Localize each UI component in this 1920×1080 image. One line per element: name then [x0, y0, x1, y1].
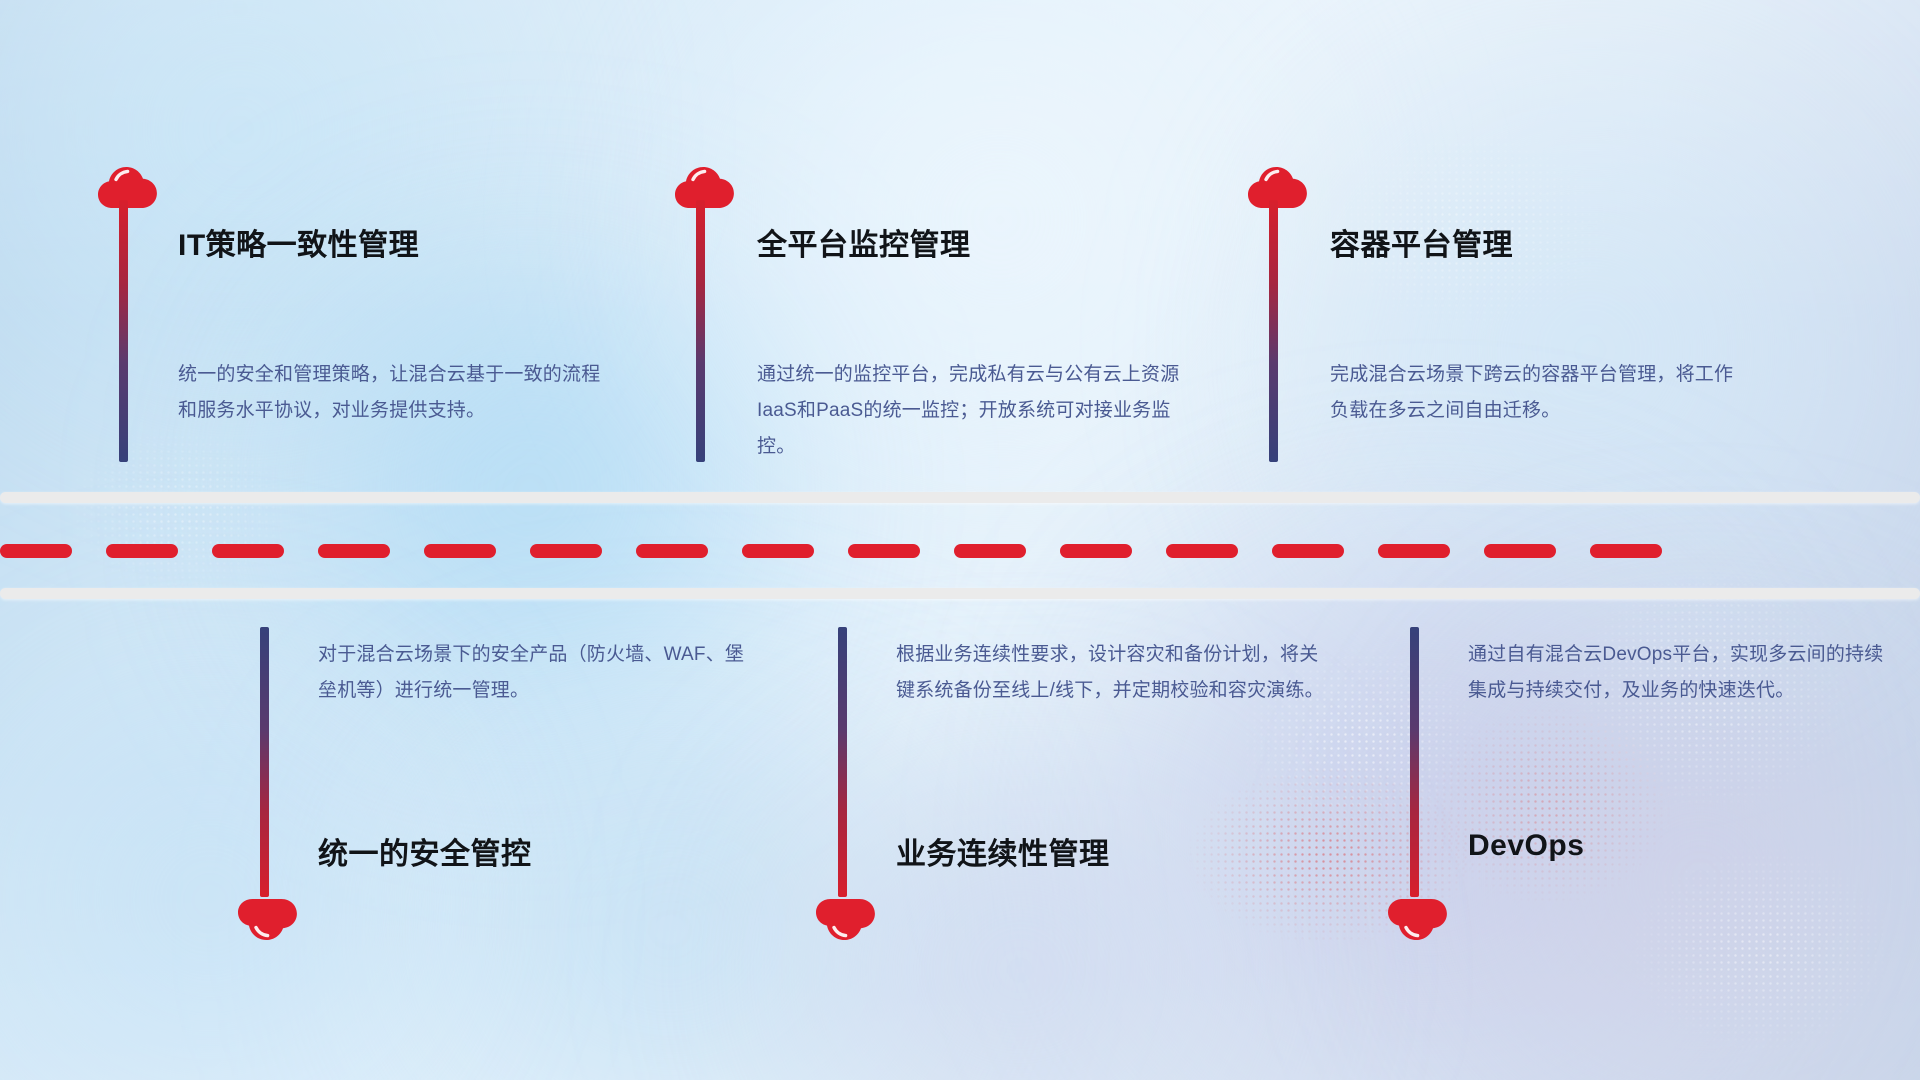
road-dash-segment: [530, 544, 602, 558]
road-dash-segment: [318, 544, 390, 558]
cloud-icon: [236, 898, 298, 944]
road-dashed-line: [0, 544, 1920, 558]
feature-title: IT策略一致性管理: [178, 220, 419, 264]
road-dash-segment: [1060, 544, 1132, 558]
road-dash-segment: [106, 544, 178, 558]
road-dash-segment: [1484, 544, 1556, 558]
column-stem: [1269, 200, 1278, 462]
column-stem: [260, 627, 269, 897]
feature-title: 业务连续性管理: [896, 829, 1110, 873]
road-solid-line-bottom: [0, 588, 1920, 599]
road-solid-line-top: [0, 492, 1920, 503]
feature-description: 根据业务连续性要求，设计容灾和备份计划，将关键系统备份至线上/线下，并定期校验和…: [896, 637, 1326, 709]
column-stem: [696, 200, 705, 462]
road-dash-segment: [1166, 544, 1238, 558]
road-dash-segment: [848, 544, 920, 558]
feature-description: 通过自有混合云DevOps平台，实现多云间的持续集成与持续交付，及业务的快速迭代…: [1468, 637, 1888, 709]
column-stem: [119, 200, 128, 462]
feature-description: 对于混合云场景下的安全产品（防火墙、WAF、堡垒机等）进行统一管理。: [318, 637, 748, 709]
feature-title: DevOps: [1468, 829, 1584, 863]
road-dash-segment: [954, 544, 1026, 558]
cloud-icon: [814, 898, 876, 944]
road-dash-segment: [212, 544, 284, 558]
feature-description: 完成混合云场景下跨云的容器平台管理，将工作负载在多云之间自由迁移。: [1330, 357, 1750, 429]
road-dash-segment: [1272, 544, 1344, 558]
feature-description: 统一的安全和管理策略，让混合云基于一致的流程和服务水平协议，对业务提供支持。: [178, 357, 610, 429]
column-stem: [838, 627, 847, 897]
feature-title: 统一的安全管控: [318, 829, 532, 873]
feature-description: 通过统一的监控平台，完成私有云与公有云上资源IaaS和PaaS的统一监控；开放系…: [757, 357, 1197, 465]
road-dash-segment: [424, 544, 496, 558]
road-dash-segment: [636, 544, 708, 558]
road-dash-segment: [742, 544, 814, 558]
cloud-icon: [1386, 898, 1448, 944]
road-dash-segment: [0, 544, 72, 558]
column-stem: [1410, 627, 1419, 897]
feature-title: 容器平台管理: [1330, 220, 1513, 264]
feature-title: 全平台监控管理: [757, 220, 971, 264]
road-dash-segment: [1590, 544, 1662, 558]
road-dash-segment: [1378, 544, 1450, 558]
